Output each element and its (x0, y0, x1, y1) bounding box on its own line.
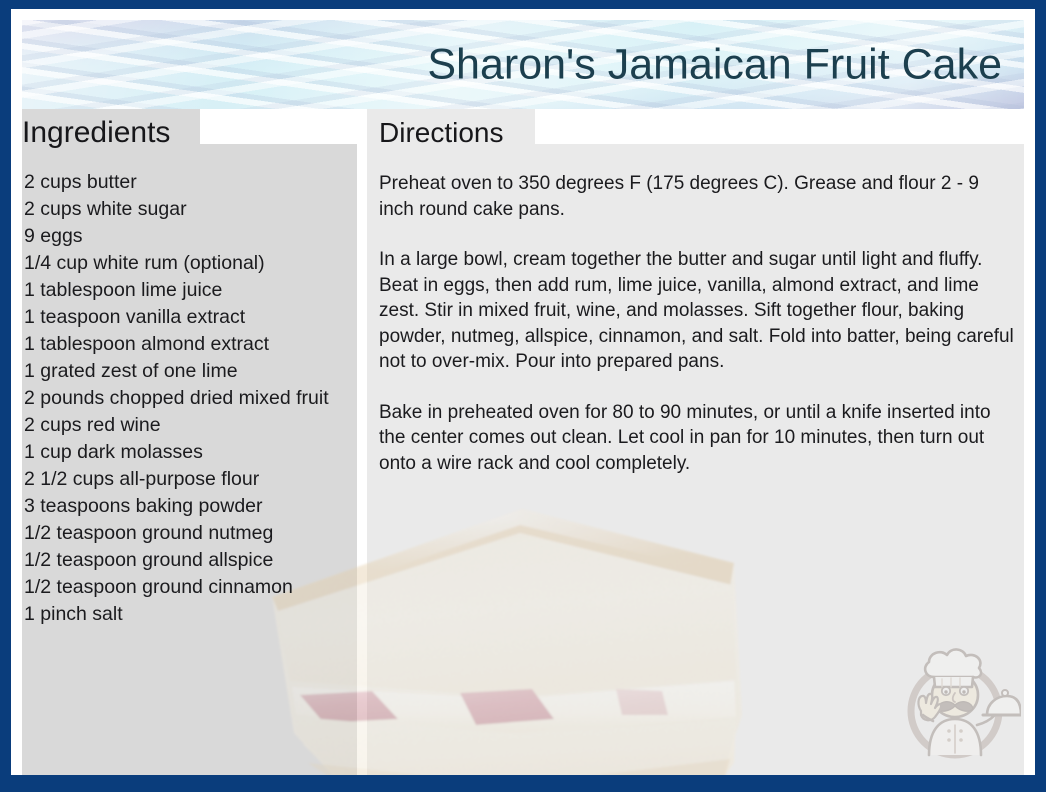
directions-body: Preheat oven to 350 degrees F (175 degre… (379, 171, 1015, 501)
ingredient-item: 1 tablespoon lime juice (24, 277, 344, 304)
ingredient-item: 1 cup dark molasses (24, 439, 344, 466)
direction-paragraph: Bake in preheated oven for 80 to 90 minu… (379, 400, 1015, 477)
ingredient-item: 3 teaspoons baking powder (24, 493, 344, 520)
ingredient-item: 1/2 teaspoon ground allspice (24, 547, 344, 574)
ingredient-item: 2 1/2 cups all-purpose flour (24, 466, 344, 493)
ingredients-list: 2 cups butter2 cups white sugar9 eggs1/4… (24, 169, 344, 628)
ingredient-item: 2 cups white sugar (24, 196, 344, 223)
content-columns: Ingredients 2 cups butter2 cups white su… (11, 109, 1035, 775)
ingredient-item: 1 pinch salt (24, 601, 344, 628)
ingredients-heading: Ingredients (22, 110, 212, 155)
ingredient-item: 2 cups butter (24, 169, 344, 196)
recipe-card: Sharon's Jamaican Fruit Cake Ingredients… (0, 0, 1046, 792)
direction-paragraph: In a large bowl, cream together the butt… (379, 247, 1015, 375)
direction-paragraph: Preheat oven to 350 degrees F (175 degre… (379, 171, 1015, 222)
ingredient-item: 1 tablespoon almond extract (24, 331, 344, 358)
recipe-page: Sharon's Jamaican Fruit Cake Ingredients… (11, 9, 1035, 775)
directions-heading: Directions (379, 110, 579, 155)
ingredient-item: 1/2 teaspoon ground nutmeg (24, 520, 344, 547)
ingredient-item: 1 teaspoon vanilla extract (24, 304, 344, 331)
page-title: Sharon's Jamaican Fruit Cake (427, 42, 1002, 87)
ingredient-item: 9 eggs (24, 223, 344, 250)
ingredient-item: 2 pounds chopped dried mixed fruit (24, 385, 344, 412)
ingredient-item: 2 cups red wine (24, 412, 344, 439)
ingredient-item: 1/2 teaspoon ground cinnamon (24, 574, 344, 601)
title-banner: Sharon's Jamaican Fruit Cake (22, 20, 1024, 109)
ingredient-item: 1 grated zest of one lime (24, 358, 344, 385)
ingredient-item: 1/4 cup white rum (optional) (24, 250, 344, 277)
